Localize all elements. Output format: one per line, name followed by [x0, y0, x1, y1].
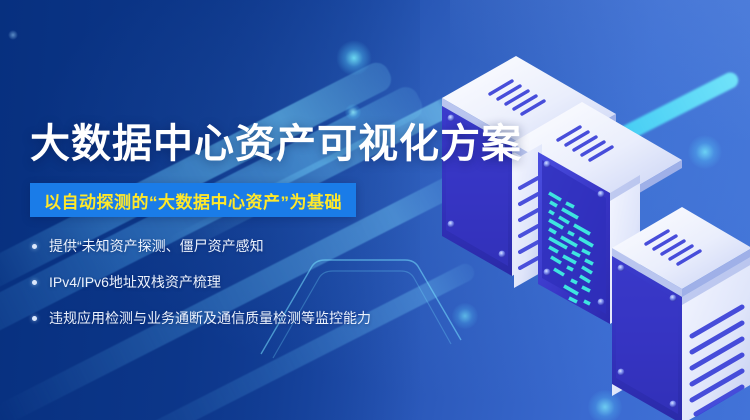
marketing-banner: 大数据中心资产可视化方案 以自动探测的“大数据中心资产”为基础 提供“未知资产探… — [0, 0, 750, 420]
list-item: 违规应用检测与业务通断及通信质量检测等监控能力 — [32, 308, 452, 328]
text-content: 大数据中心资产可视化方案 以自动探测的“大数据中心资产”为基础 提供“未知资产探… — [0, 0, 470, 420]
list-item-label: 提供“未知资产探测、僵尸资产感知 — [49, 236, 264, 256]
list-item: 提供“未知资产探测、僵尸资产感知 — [32, 236, 452, 256]
tagline-badge: 以自动探测的“大数据中心资产”为基础 — [30, 183, 356, 217]
page-title: 大数据中心资产可视化方案 — [30, 122, 522, 166]
bullet-dot-icon — [32, 280, 37, 285]
feature-list: 提供“未知资产探测、僵尸资产感知 IPv4/IPv6地址双栈资产梳理 违规应用检… — [32, 236, 452, 344]
list-item-label: IPv4/IPv6地址双栈资产梳理 — [49, 272, 221, 292]
list-item: IPv4/IPv6地址双栈资产梳理 — [32, 272, 452, 292]
list-item-label: 违规应用检测与业务通断及通信质量检测等监控能力 — [49, 308, 371, 328]
bullet-dot-icon — [32, 316, 37, 321]
bullet-dot-icon — [32, 244, 37, 249]
server-rack-3 — [612, 207, 750, 420]
server-illustration — [430, 48, 750, 420]
tagline-text: 以自动探测的“大数据中心资产”为基础 — [44, 188, 342, 213]
